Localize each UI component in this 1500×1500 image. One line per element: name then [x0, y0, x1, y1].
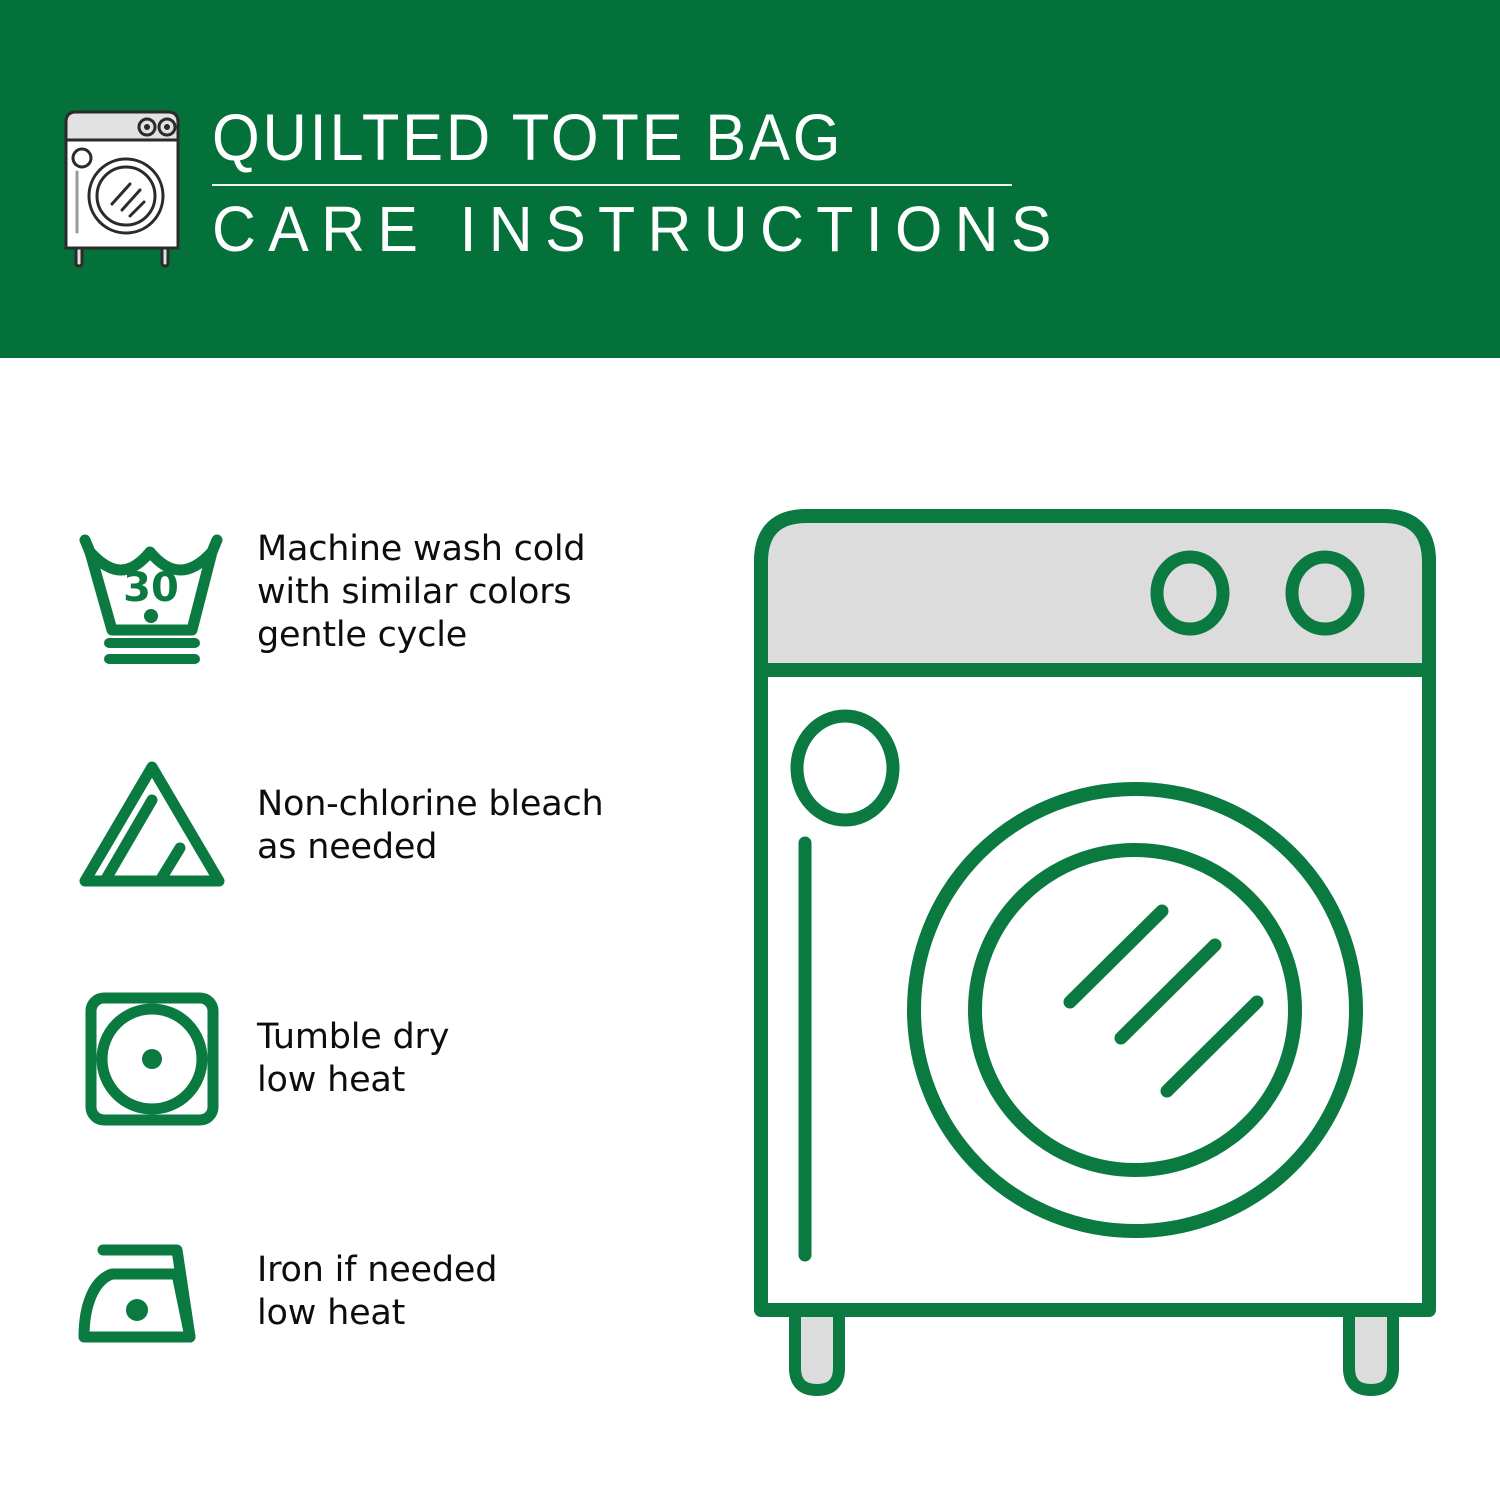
- instruction-item-tumble-dry: Tumble dry low heat: [72, 971, 712, 1146]
- knob-left: [1157, 557, 1223, 629]
- knob-right: [1292, 557, 1358, 629]
- header-content: QUILTED TOTE BAG CARE INSTRUCTIONS: [60, 100, 1109, 268]
- symbol-cell: [72, 984, 257, 1134]
- instruction-label: Tumble dry low heat: [257, 1016, 449, 1102]
- instruction-label: Iron if needed low heat: [257, 1249, 497, 1335]
- gentle-cycle-bar: [104, 654, 200, 664]
- bleach-triangle-symbol: [72, 751, 242, 901]
- wash-temperature-label: 30: [123, 565, 179, 611]
- instruction-label: Machine wash cold with similar colors ge…: [257, 528, 585, 657]
- instruction-item-bleach: Non-chlorine bleach as needed: [72, 738, 712, 913]
- dispenser-circle: [797, 716, 893, 820]
- symbol-cell: [72, 1217, 257, 1367]
- wash-basin-symbol: 30: [72, 518, 242, 668]
- washing-machine-icon: [60, 108, 190, 268]
- wash-dot-icon: [144, 609, 158, 623]
- header-text-block: QUILTED TOTE BAG CARE INSTRUCTIONS: [212, 100, 1109, 264]
- washing-machine-illustration: [735, 490, 1455, 1430]
- symbol-cell: [72, 751, 257, 901]
- header-band: QUILTED TOTE BAG CARE INSTRUCTIONS: [0, 0, 1500, 358]
- iron-heat-dot-icon: [126, 1299, 148, 1321]
- page-subtitle: CARE INSTRUCTIONS: [212, 194, 1064, 264]
- instruction-label: Non-chlorine bleach as needed: [257, 783, 603, 869]
- instruction-item-machine-wash: 30 Machine wash cold with similar colors…: [72, 505, 712, 680]
- gentle-cycle-bar: [104, 638, 200, 648]
- iron-symbol: [72, 1217, 242, 1367]
- dry-heat-dot-icon: [142, 1049, 162, 1069]
- symbol-cell: 30: [72, 518, 257, 668]
- instruction-item-iron: Iron if needed low heat: [72, 1204, 712, 1379]
- title-divider: [212, 184, 1012, 186]
- instruction-list: 30 Machine wash cold with similar colors…: [72, 505, 712, 1379]
- tumble-dry-symbol: [72, 984, 242, 1134]
- page-title: QUILTED TOTE BAG: [212, 100, 1046, 174]
